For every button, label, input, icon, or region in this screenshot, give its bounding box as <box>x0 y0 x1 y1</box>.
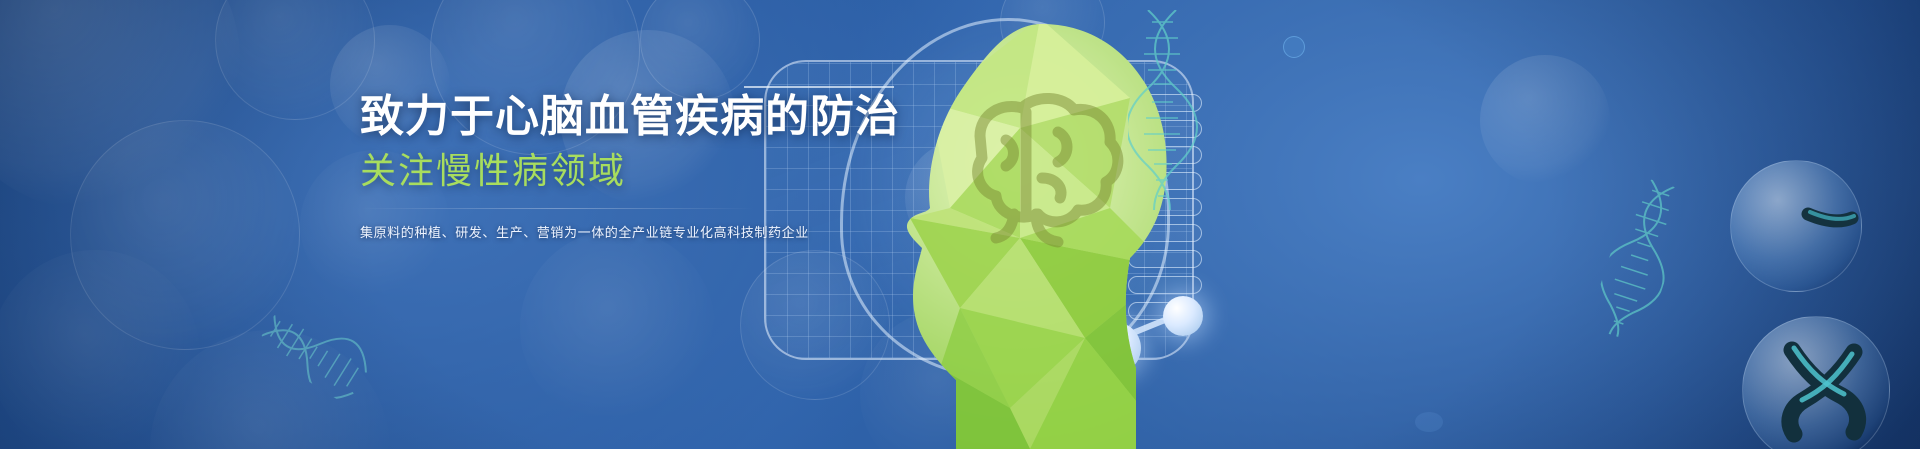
chromosome-icon <box>1760 178 1890 298</box>
bokeh-circle <box>0 0 240 210</box>
dna-helix-icon <box>1587 175 1694 346</box>
particle-dot <box>1283 36 1305 58</box>
chromosome-x-icon <box>1750 322 1900 449</box>
hero-copy: 致力于心脑血管疾病的防治 关注慢性病领域 集原料的种植、研发、生产、营销为一体的… <box>360 92 1120 242</box>
hero-subheadline: 关注慢性病领域 <box>360 150 1120 191</box>
headline-part-3: 的防治 <box>765 92 900 141</box>
bokeh-circle <box>0 250 200 449</box>
bokeh-circle <box>215 0 375 120</box>
hero-banner: 致力于心脑血管疾病的防治 关注慢性病领域 集原料的种植、研发、生产、营销为一体的… <box>0 0 1920 449</box>
headline-part-2: 心脑血管疾病 <box>495 92 765 141</box>
hero-divider <box>360 208 754 209</box>
headline-part-1: 致力于 <box>360 92 495 141</box>
bokeh-circle <box>70 120 300 350</box>
dna-helix-icon <box>1128 10 1198 210</box>
hero-headline: 致力于心脑血管疾病的防治 <box>360 92 1120 141</box>
hero-tagline: 集原料的种植、研发、生产、营销为一体的全产业链专业化高科技制药企业 <box>360 223 1120 243</box>
bokeh-circle <box>520 230 715 425</box>
dna-helix-icon <box>254 254 406 406</box>
particle-dot <box>1415 412 1443 432</box>
